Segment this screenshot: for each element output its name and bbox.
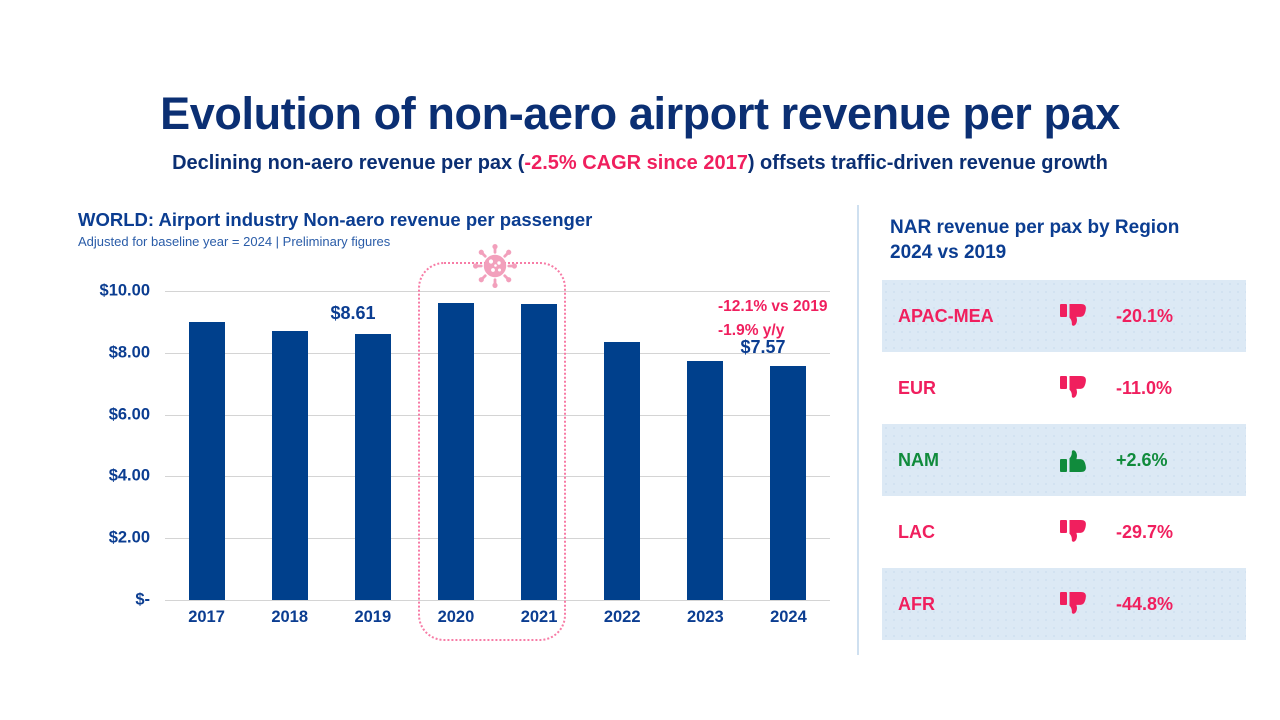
thumbs-down-icon [1032,589,1116,619]
bar-2022 [604,342,640,600]
annotation-vs-2019: -12.1% vs 2019 [718,298,827,316]
region-panel-title-line1: NAR revenue per pax by Region [890,215,1179,240]
y-axis-tick-label: $10.00 [72,282,150,301]
region-value: -44.8% [1116,594,1246,615]
region-panel-title-line2: 2024 vs 2019 [890,240,1179,265]
thumbs-up-icon [1032,445,1116,475]
thumbs-down-icon [1032,517,1116,547]
region-name: APAC-MEA [882,306,1032,327]
x-axis-tick-2019: 2019 [333,608,413,627]
x-axis-tick-2023: 2023 [665,608,745,627]
bar-2017 [189,322,225,600]
subtitle-accent: -2.5% CAGR since 2017 [524,152,747,174]
region-value: -11.0% [1116,378,1246,399]
page-subtitle: Declining non-aero revenue per pax (-2.5… [0,152,1280,175]
region-row: APAC-MEA-20.1% [882,280,1246,352]
x-axis-tick-2022: 2022 [582,608,662,627]
y-axis-tick-label: $8.00 [72,343,150,362]
thumbs-down-icon [1032,373,1116,403]
y-axis-tick-label: $4.00 [72,467,150,486]
bar-2018 [272,331,308,600]
region-value: +2.6% [1116,450,1246,471]
subtitle-suffix: ) offsets traffic-driven revenue growth [748,152,1108,174]
covid-period-highlight [418,262,566,641]
region-value: -20.1% [1116,306,1246,327]
region-row: EUR-11.0% [882,352,1246,424]
chart-panel: WORLD: Airport industry Non-aero revenue… [0,200,858,670]
y-axis-tick-label: $2.00 [72,529,150,548]
bar-2019 [355,334,391,600]
region-row: AFR-44.8% [882,568,1246,640]
y-axis-tick-label: $6.00 [72,405,150,424]
y-axis-tick-label: $- [72,591,150,610]
region-summary-panel: NAR revenue per pax by Region 2024 vs 20… [882,208,1252,658]
bar-2023 [687,361,723,600]
x-axis-tick-2017: 2017 [167,608,247,627]
region-name: NAM [882,450,1032,471]
region-name: LAC [882,522,1032,543]
page-title: Evolution of non-aero airport revenue pe… [0,88,1280,140]
x-axis-tick-2018: 2018 [250,608,330,627]
panel-divider [857,205,859,655]
region-value: -29.7% [1116,522,1246,543]
thumbs-down-icon [1032,301,1116,331]
bar-label-2019: $8.61 [308,303,398,324]
region-row: LAC-29.7% [882,496,1246,568]
region-name: AFR [882,594,1032,615]
region-panel-title: NAR revenue per pax by Region 2024 vs 20… [890,215,1179,265]
x-axis-tick-2024: 2024 [748,608,828,627]
region-name: EUR [882,378,1032,399]
subtitle-prefix: Declining non-aero revenue per pax ( [172,152,524,174]
region-row: NAM+2.6% [882,424,1246,496]
coronavirus-icon [473,244,517,288]
bar-label-2024: $7.57 [718,337,808,358]
bar-2024 [770,366,806,600]
